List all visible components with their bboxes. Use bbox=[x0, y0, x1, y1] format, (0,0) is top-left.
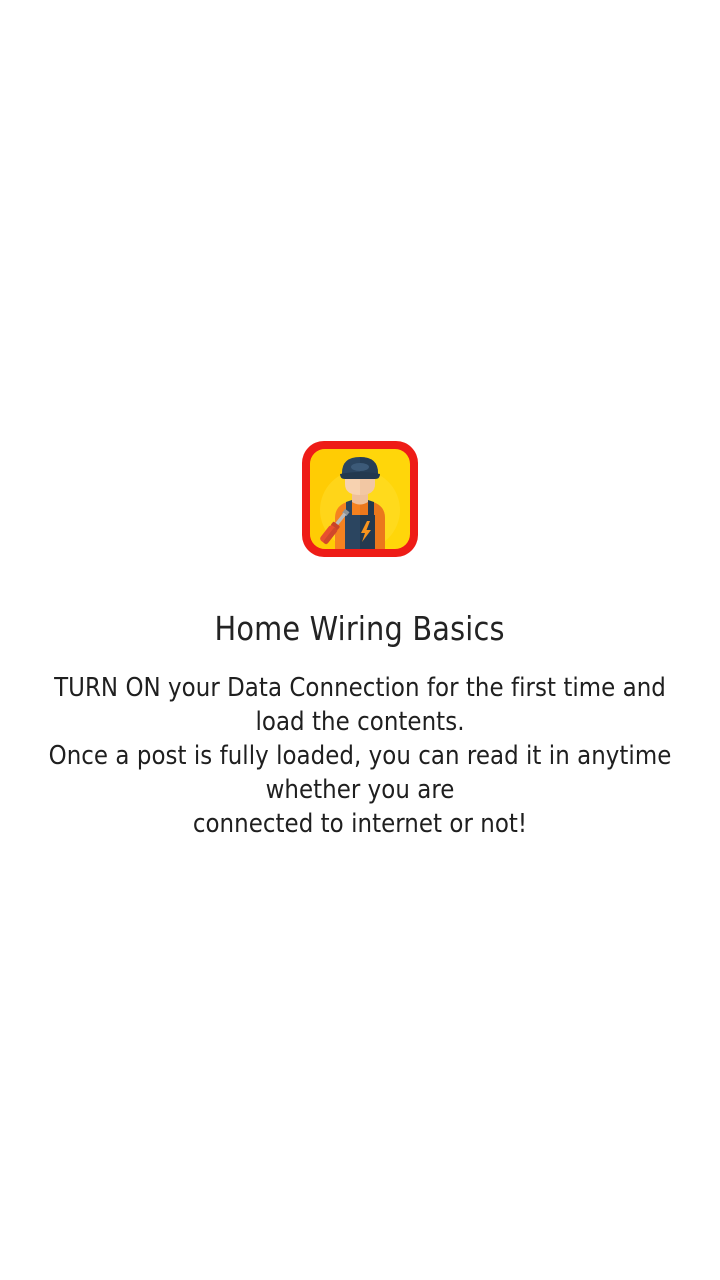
description-line-1: TURN ON your Data Connection for the fir… bbox=[33, 671, 688, 739]
app-icon bbox=[301, 440, 419, 558]
cap-brim bbox=[340, 472, 380, 479]
overall-strap-right bbox=[368, 500, 374, 516]
description-line-3: connected to internet or not! bbox=[33, 807, 688, 841]
cap-emblem bbox=[351, 463, 369, 471]
page-title: Home Wiring Basics bbox=[215, 612, 505, 645]
home-wiring-basics-app-icon bbox=[301, 440, 419, 558]
description-line-2: Once a post is fully loaded, you can rea… bbox=[33, 739, 688, 807]
app-description: TURN ON your Data Connection for the fir… bbox=[33, 671, 688, 841]
splash-screen: Home Wiring Basics TURN ON your Data Con… bbox=[0, 0, 720, 1280]
